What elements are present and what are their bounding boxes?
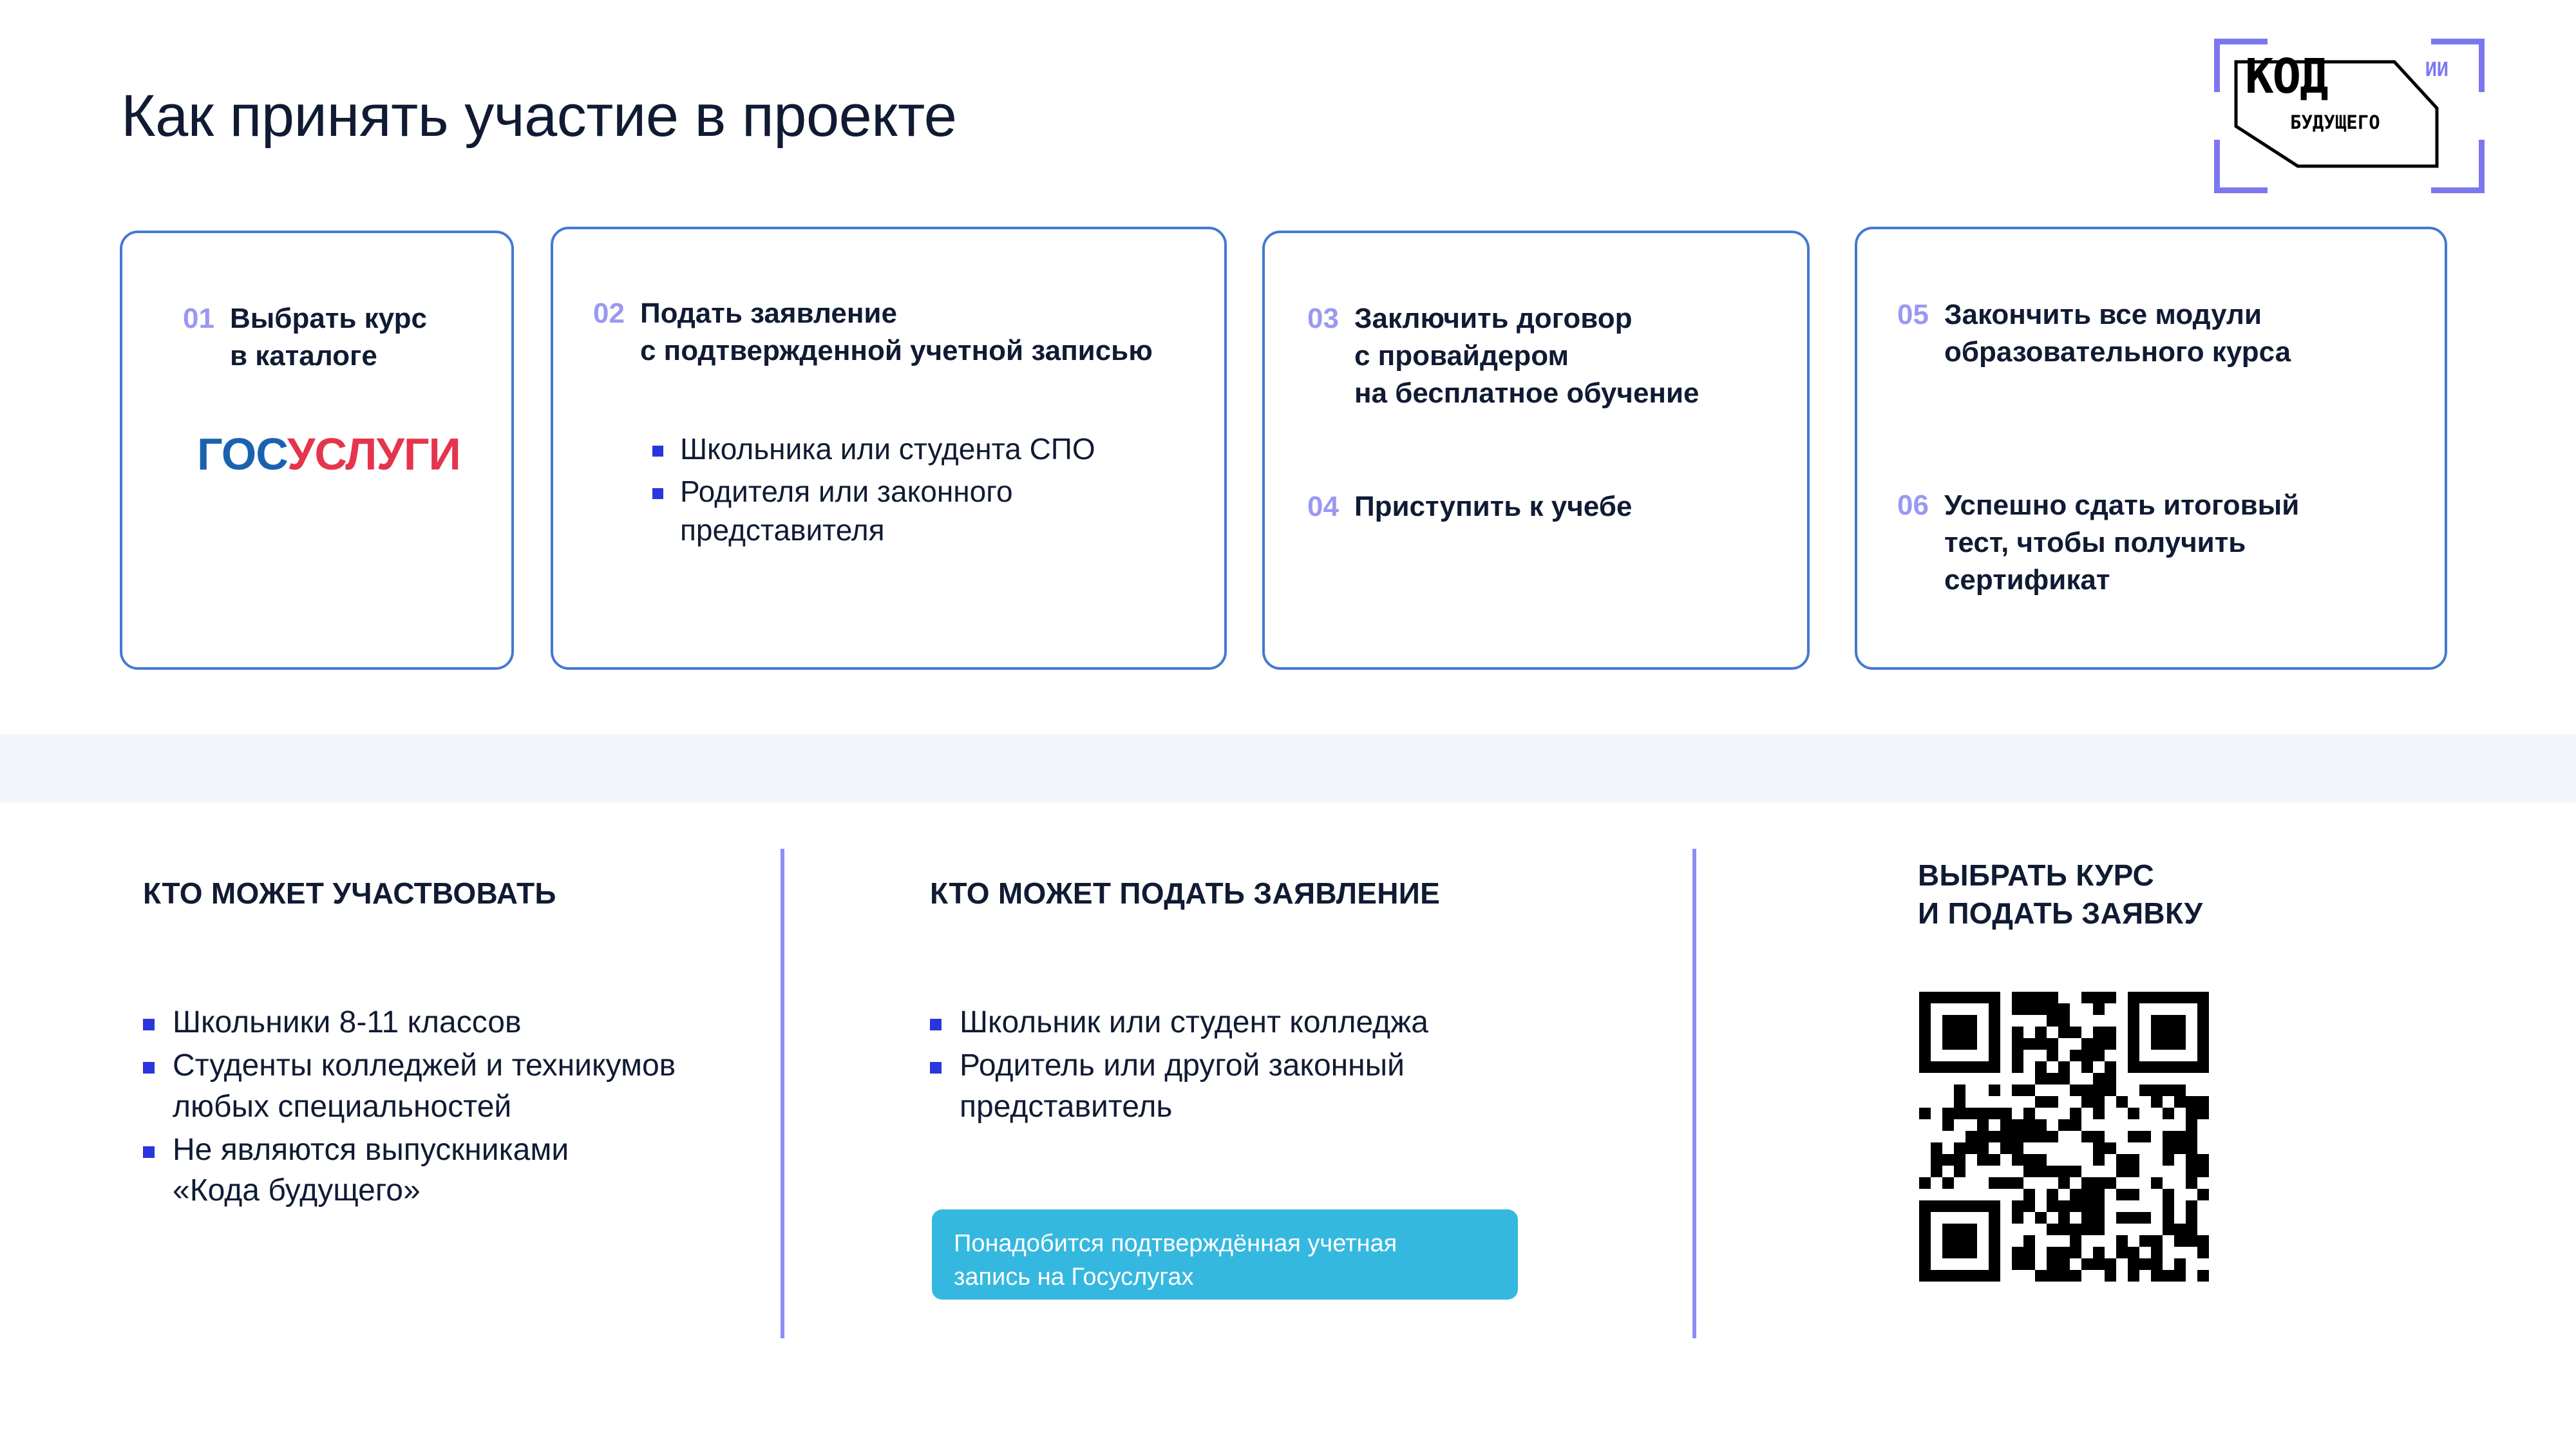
list-item-label: Родителя или законного представителя: [680, 473, 1013, 550]
list-item: Не являются выпускниками «Кода будущего»: [143, 1130, 735, 1211]
qr-code[interactable]: [1919, 992, 2209, 1282]
step-card-02: 02 Подать заявление с подтвержденной уче…: [551, 227, 1227, 670]
list-item: Студенты колледжей и техникумов любых сп…: [143, 1045, 735, 1127]
logo-badge-ai: ИИ: [2425, 61, 2448, 80]
list-item-label: Не являются выпускниками «Кода будущего»: [173, 1130, 569, 1211]
gosuslugi-prefix: ГОС: [197, 429, 287, 479]
list-item: Школьника или студента СПО: [652, 430, 1095, 469]
list-item: Школьник или студент колледжа: [930, 1002, 1510, 1043]
logo-word-budushchego: БУДУЩЕГО: [2290, 113, 2380, 132]
step-label: Выбрать курс в каталоге: [230, 300, 427, 375]
step-04: 04 Приступить к учебе: [1307, 488, 1632, 526]
step-05: 05 Закончить все модули образовательного…: [1897, 296, 2291, 371]
applicants-list: Школьник или студент колледжа Родитель и…: [930, 1002, 1510, 1130]
bullet-square-icon: [652, 446, 663, 457]
step-label: Заключить договор с провайдером на беспл…: [1354, 300, 1700, 412]
logo-word-kod: КОД: [2245, 53, 2327, 100]
bullet-square-icon: [143, 1019, 155, 1030]
column-heading-apply: ВЫБРАТЬ КУРС И ПОДАТЬ ЗАЯВКУ: [1918, 857, 2202, 933]
step-number: 03: [1307, 300, 1339, 337]
step-label: Приступить к учебе: [1354, 488, 1632, 526]
list-item-label: Родитель или другой законный представите…: [960, 1045, 1405, 1127]
list-item: Родителя или законного представителя: [652, 473, 1095, 550]
list-item-label: Школьник или студент колледжа: [960, 1002, 1428, 1043]
step-card-01: 01 Выбрать курс в каталоге ГОСУСЛУГИ: [120, 231, 514, 670]
step-number: 04: [1307, 488, 1339, 526]
bullet-square-icon: [930, 1019, 942, 1030]
bullet-square-icon: [143, 1146, 155, 1158]
list-item-label: Студенты колледжей и техникумов любых сп…: [173, 1045, 676, 1127]
callout-text: Понадобится подтверждённая учетная запис…: [954, 1227, 1496, 1294]
step-number: 05: [1897, 296, 1929, 334]
participants-list: Школьники 8-11 классов Студенты колледже…: [143, 1002, 735, 1214]
step-label: Закончить все модули образовательного ку…: [1944, 296, 2291, 371]
step-number: 06: [1897, 487, 1929, 524]
account-requirement-callout: Понадобится подтверждённая учетная запис…: [932, 1209, 1518, 1300]
bullet-square-icon: [652, 488, 663, 499]
step-label: Подать заявление с подтвержденной учетно…: [640, 295, 1153, 370]
step-number: 02: [593, 295, 625, 332]
step-02: 02 Подать заявление с подтвержденной уче…: [593, 295, 1153, 370]
section-divider-band: [0, 734, 2576, 802]
column-heading-applicants: КТО МОЖЕТ ПОДАТЬ ЗАЯВЛЕНИЕ: [930, 875, 1440, 913]
step-06: 06 Успешно сдать итоговый тест, чтобы по…: [1897, 487, 2299, 599]
step-01: 01 Выбрать курс в каталоге: [183, 300, 427, 375]
step-card-03: 03 Заключить договор с провайдером на бе…: [1262, 231, 1810, 670]
column-divider-right: [1692, 849, 1696, 1338]
step-label: Успешно сдать итоговый тест, чтобы получ…: [1944, 487, 2299, 599]
brand-logo: КОД БУДУЩЕГО ИИ: [2214, 39, 2485, 193]
column-divider-left: [781, 849, 784, 1338]
bullet-square-icon: [143, 1062, 155, 1074]
step-03: 03 Заключить договор с провайдером на бе…: [1307, 300, 1700, 412]
step-02-bullet-list: Школьника или студента СПО Родителя или …: [652, 430, 1095, 553]
step-number: 01: [183, 300, 214, 337]
step-card-04: 05 Закончить все модули образовательного…: [1855, 227, 2447, 670]
list-item: Родитель или другой законный представите…: [930, 1045, 1510, 1127]
page-title: Как принять участие в проекте: [121, 82, 956, 150]
list-item-label: Школьники 8-11 классов: [173, 1002, 521, 1043]
gosuslugi-suffix: УСЛУГИ: [287, 429, 460, 479]
list-item-label: Школьника или студента СПО: [680, 430, 1095, 469]
gosuslugi-logo: ГОСУСЛУГИ: [197, 431, 460, 477]
list-item: Школьники 8-11 классов: [143, 1002, 735, 1043]
qr-code-canvas[interactable]: [1919, 992, 2209, 1282]
column-heading-participants: КТО МОЖЕТ УЧАСТВОВАТЬ: [143, 875, 556, 913]
bullet-square-icon: [930, 1062, 942, 1074]
